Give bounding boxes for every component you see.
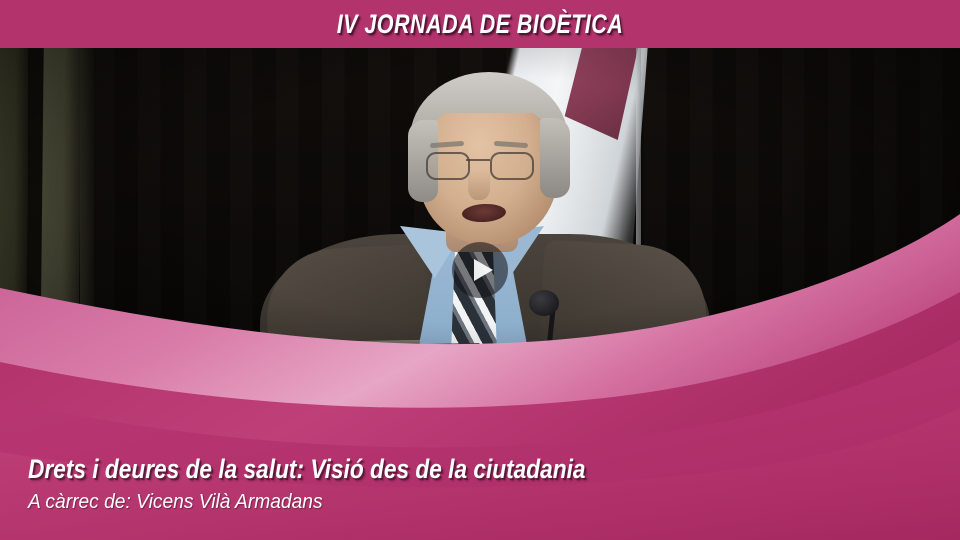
video-still-image (0, 48, 960, 408)
image-vignette (0, 48, 960, 408)
play-button[interactable] (452, 242, 508, 298)
header-band: IV JORNADA DE BIOÈTICA (0, 0, 960, 48)
page-title: IV JORNADA DE BIOÈTICA (96, 9, 864, 39)
video-presenter: A càrrec de: Vicens Vilà Armadans (28, 490, 665, 514)
caption-block: Drets i deures de la salut: Visió des de… (28, 454, 692, 514)
play-icon (474, 259, 493, 281)
video-card: IV JORNADA DE BIOÈTICA Drets i deures de… (0, 0, 960, 540)
video-title: Drets i deures de la salut: Visió des de… (28, 454, 586, 485)
